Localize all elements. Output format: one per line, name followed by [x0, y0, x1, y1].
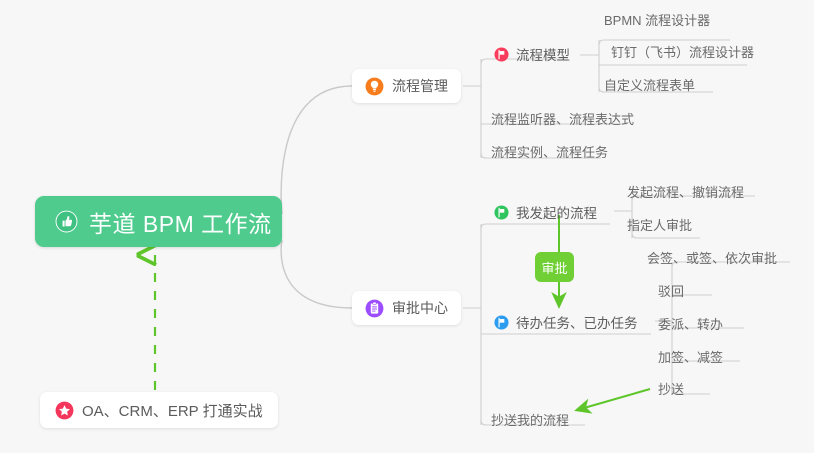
thumbs-up-icon [54, 209, 79, 234]
leaf-custom-process-form[interactable]: 自定义流程表单 [604, 77, 695, 98]
flag-icon [494, 315, 509, 330]
branch-label: 流程管理 [392, 76, 448, 96]
leaf-add-remove-sign[interactable]: 加签、减签 [658, 349, 723, 370]
leaf-start-cancel-process[interactable]: 发起流程、撤销流程 [627, 184, 744, 205]
leaf-process-instance-task[interactable]: 流程实例、流程任务 [491, 144, 608, 165]
branch-node-approval-center[interactable]: 审批中心 [352, 291, 461, 325]
approval-callout[interactable]: 审批 [535, 252, 574, 282]
subnode-my-initiated-processes[interactable]: 我发起的流程 [494, 202, 597, 222]
leaf-cc-to-me-processes[interactable]: 抄送我的流程 [491, 412, 569, 433]
subnode-label: 我发起的流程 [516, 202, 597, 222]
subnode-label: 流程模型 [516, 44, 570, 64]
root-label: 芋道 BPM 工作流 [89, 205, 272, 239]
star-icon [55, 401, 74, 420]
subnode-todo-done-tasks[interactable]: 待办任务、已办任务 [494, 312, 638, 332]
footer-node-oa-crm-erp[interactable]: OA、CRM、ERP 打通实战 [40, 392, 278, 428]
leaf-delegate-transfer[interactable]: 委派、转办 [658, 316, 723, 337]
leaf-dingtalk-feishu-designer[interactable]: 钉钉（飞书）流程设计器 [611, 44, 754, 65]
branch-node-process-management[interactable]: 流程管理 [352, 69, 461, 103]
leaf-assignee-approval[interactable]: 指定人审批 [627, 217, 692, 238]
mindmap-canvas: 芋道 BPM 工作流 流程管理 流程模型 BPMN 流程设计器 钉钉（飞书）流程… [0, 0, 814, 453]
root-node[interactable]: 芋道 BPM 工作流 [35, 196, 282, 247]
flag-icon [494, 205, 509, 220]
approval-callout-label: 审批 [541, 258, 567, 277]
footer-node-label: OA、CRM、ERP 打通实战 [82, 400, 263, 421]
branch-label: 审批中心 [392, 298, 448, 318]
lightbulb-icon [365, 77, 384, 96]
clipboard-icon [365, 299, 384, 318]
leaf-reject[interactable]: 驳回 [658, 283, 684, 304]
leaf-countersign-orsign-sequential[interactable]: 会签、或签、依次审批 [647, 250, 777, 271]
subnode-label: 待办任务、已办任务 [516, 312, 638, 332]
subnode-process-model[interactable]: 流程模型 [494, 44, 570, 64]
leaf-cc[interactable]: 抄送 [658, 381, 684, 402]
flag-icon [494, 47, 509, 62]
leaf-process-listener-expression[interactable]: 流程监听器、流程表达式 [491, 111, 634, 132]
leaf-bpmn-designer[interactable]: BPMN 流程设计器 [604, 12, 710, 33]
